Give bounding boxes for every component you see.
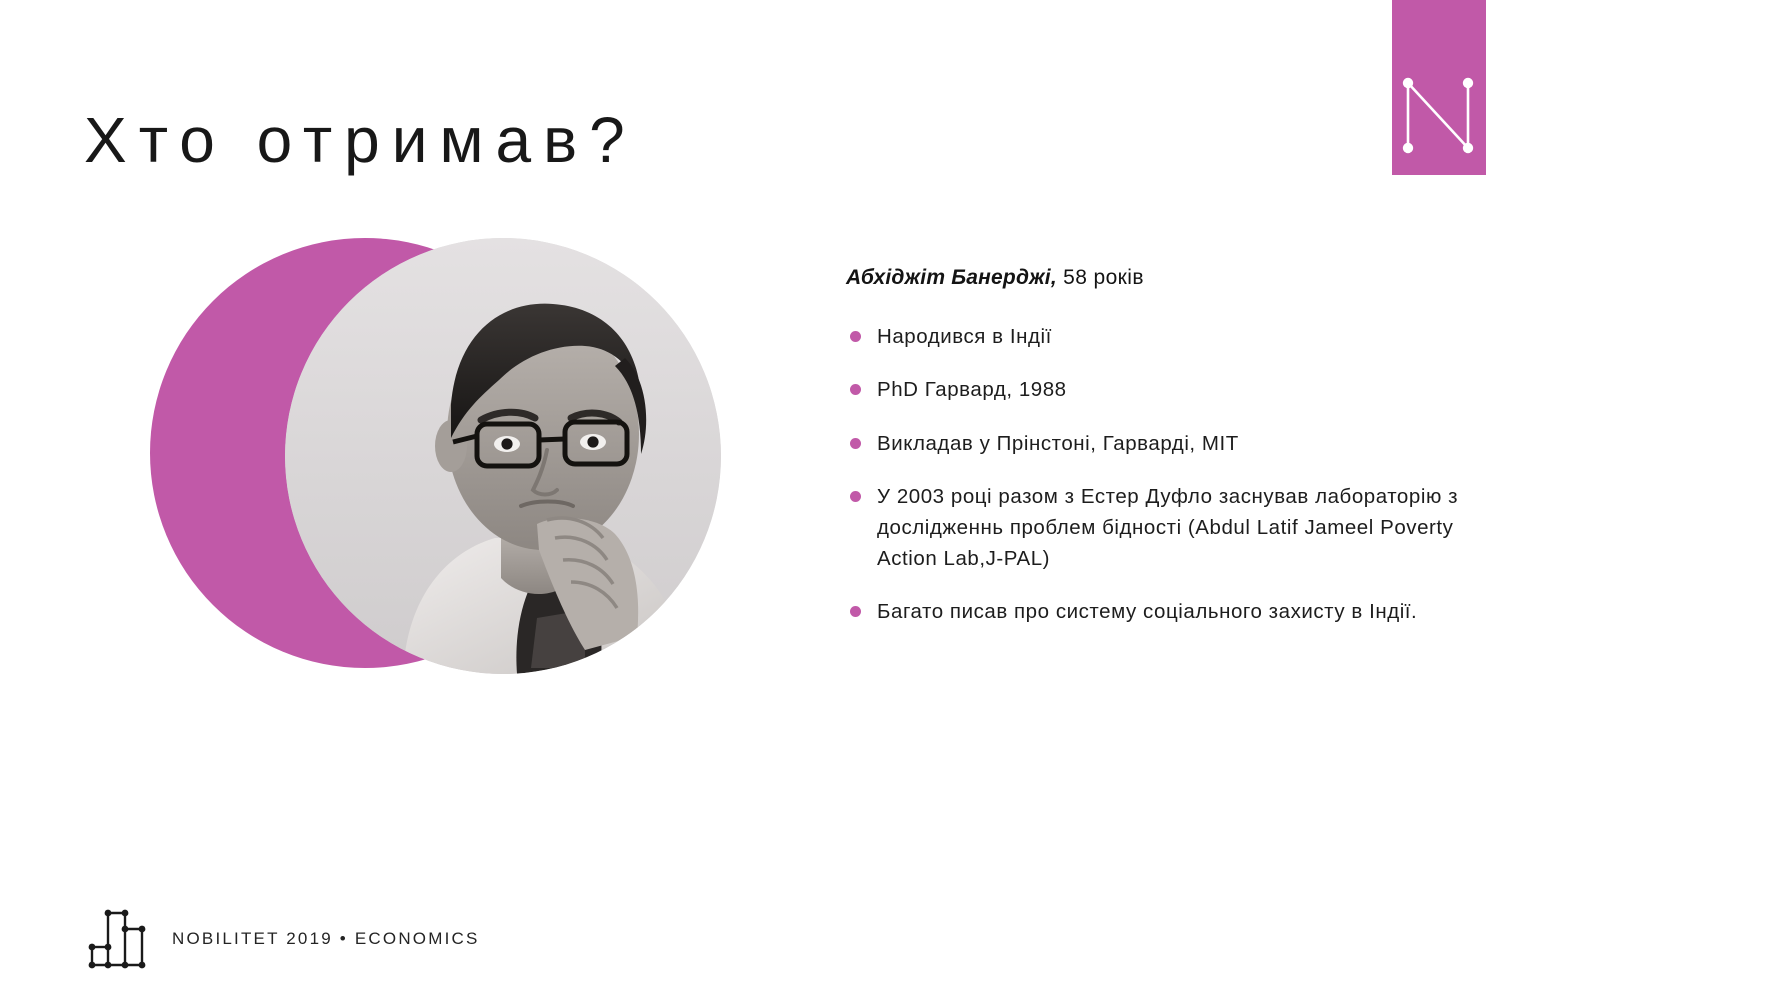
bullet-dot-icon xyxy=(850,384,861,395)
fact-list: Народився в Індії PhD Гарвард, 1988 Викл… xyxy=(846,321,1506,627)
bullet-dot-icon xyxy=(850,606,861,617)
nobilitet-logo-icon xyxy=(84,905,154,973)
avatar xyxy=(285,238,721,674)
hero-visual xyxy=(150,238,750,688)
page-title: Хто отримав? xyxy=(84,108,637,172)
brand-n-icon xyxy=(1392,0,1486,175)
list-item-text: Викладав у Прінстоні, Гарварді, MIT xyxy=(877,432,1239,455)
brand-badge xyxy=(1392,0,1486,175)
person-info: Абхіджіт Банерджі, 58 років Народився в … xyxy=(846,264,1506,627)
list-item-text: У 2003 році разом з Естер Дуфло заснував… xyxy=(877,485,1458,570)
list-item: PhD Гарвард, 1988 xyxy=(846,374,1506,405)
bullet-dot-icon xyxy=(850,491,861,502)
person-name: Абхіджіт Банерджі, xyxy=(846,266,1057,289)
list-item: Багато писав про систему соціального зах… xyxy=(846,596,1506,627)
person-age: 58 років xyxy=(1063,266,1144,289)
slide: Хто отримав? xyxy=(0,0,1778,1000)
list-item-text: Багато писав про систему соціального зах… xyxy=(877,600,1417,623)
portrait-photo xyxy=(285,238,721,674)
list-item-text: PhD Гарвард, 1988 xyxy=(877,378,1067,401)
footer: NOBILITET 2019 • ECONOMICS xyxy=(84,905,480,973)
list-item: Народився в Індії xyxy=(846,321,1506,352)
list-item-text: Народився в Індії xyxy=(877,325,1052,348)
bullet-dot-icon xyxy=(850,331,861,342)
person-heading: Абхіджіт Банерджі, 58 років xyxy=(846,264,1506,291)
list-item: У 2003 році разом з Естер Дуфло заснував… xyxy=(846,481,1506,574)
footer-text: NOBILITET 2019 • ECONOMICS xyxy=(172,929,480,949)
list-item: Викладав у Прінстоні, Гарварді, MIT xyxy=(846,428,1506,459)
bullet-dot-icon xyxy=(850,438,861,449)
